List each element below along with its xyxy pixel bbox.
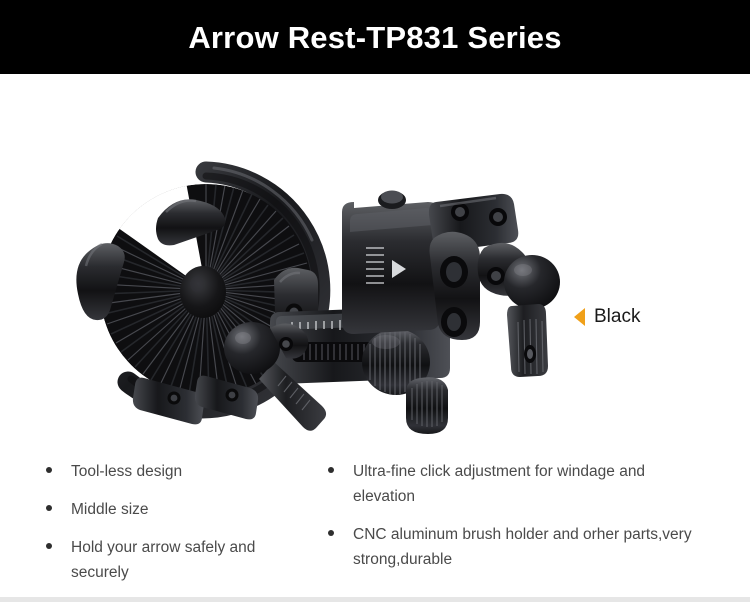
list-item: Tool-less design <box>46 459 312 484</box>
bullet-icon <box>46 505 52 511</box>
list-item: Hold your arrow safely and securely <box>46 535 312 585</box>
lower-lock-knob <box>406 377 448 434</box>
feature-column-right: Ultra-fine click adjustment for windage … <box>312 459 750 598</box>
bullet-icon <box>46 543 52 549</box>
bullet-icon <box>328 530 334 536</box>
bullet-icon <box>46 467 52 473</box>
brush-center-hub <box>180 266 226 318</box>
triangle-left-icon <box>574 308 585 326</box>
feature-text: Tool-less design <box>71 459 182 484</box>
feature-column-left: Tool-less design Middle size Hold your a… <box>0 459 312 598</box>
feature-text: Ultra-fine click adjustment for windage … <box>353 459 693 509</box>
feature-list: Tool-less design Middle size Hold your a… <box>0 459 750 598</box>
page-header-banner: Arrow Rest-TP831 Series <box>0 0 750 74</box>
feature-text: CNC aluminum brush holder and orher part… <box>353 522 693 572</box>
elevation-body-block <box>342 191 440 335</box>
product-image-stage: Black <box>0 74 750 459</box>
color-option-black[interactable]: Black <box>574 307 640 326</box>
page-title: Arrow Rest-TP831 Series <box>188 22 561 53</box>
color-option-label: Black <box>594 307 640 326</box>
list-item: CNC aluminum brush holder and orher part… <box>328 522 750 572</box>
bullet-icon <box>328 467 334 473</box>
bracket-lock-lever <box>478 243 560 377</box>
product-photo <box>36 90 576 440</box>
feature-text: Hold your arrow safely and securely <box>71 535 312 585</box>
list-item: Ultra-fine click adjustment for windage … <box>328 459 750 509</box>
bottom-divider <box>0 597 750 602</box>
list-item: Middle size <box>46 497 312 522</box>
feature-text: Middle size <box>71 497 149 522</box>
